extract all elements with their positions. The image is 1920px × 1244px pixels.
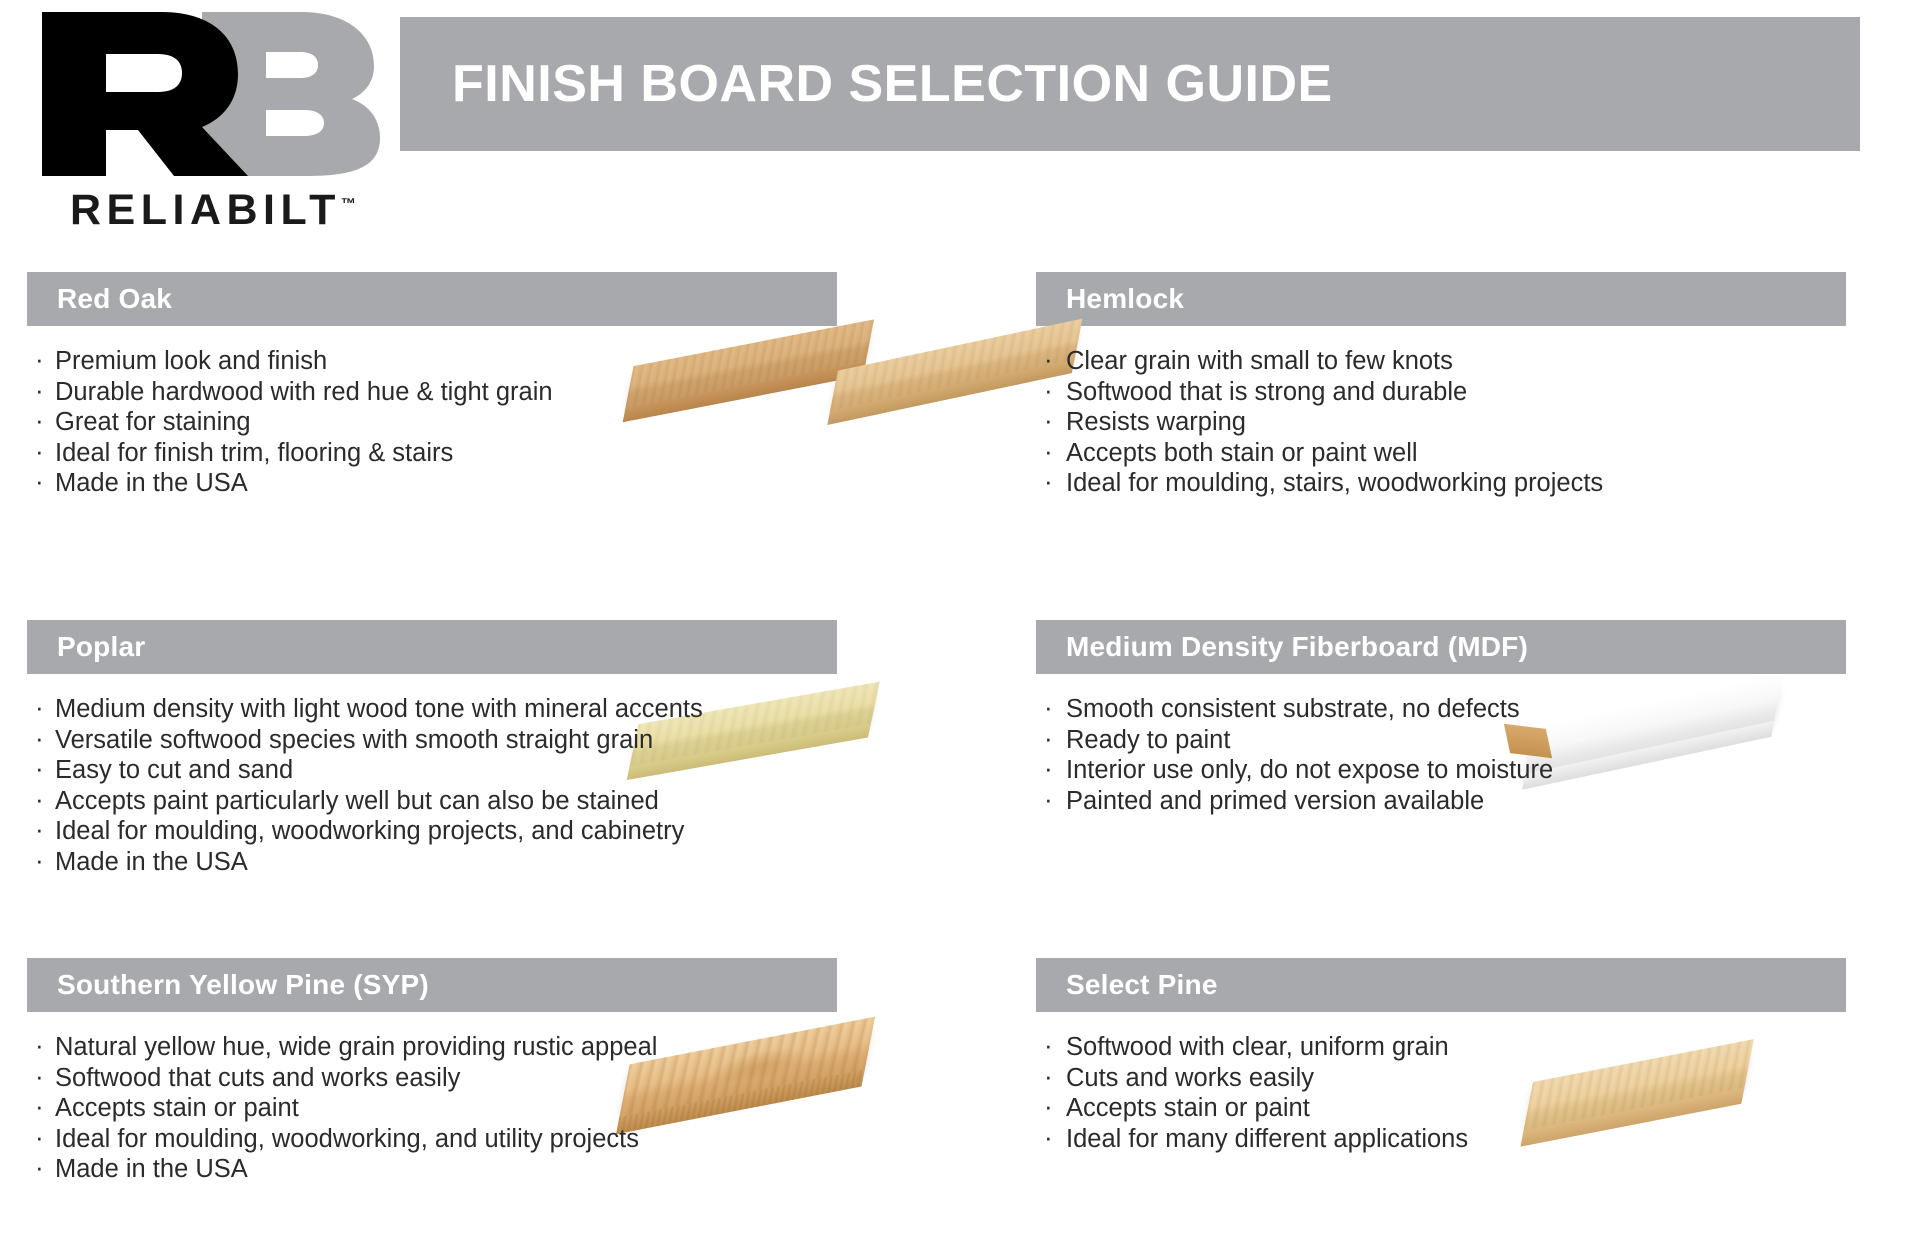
species-body: Softwood with clear, uniform grain Cuts … [1036, 1012, 1846, 1232]
list-item: Made in the USA [27, 847, 837, 878]
list-item: Versatile softwood species with smooth s… [27, 725, 837, 756]
list-item: Easy to cut and sand [27, 755, 837, 786]
species-body: Clear grain with small to few knots Soft… [1036, 326, 1846, 546]
species-title-bar: Poplar [27, 620, 837, 674]
list-item: Softwood with clear, uniform grain [1036, 1032, 1846, 1063]
reliabilt-logo: RELIABILT™ [34, 8, 404, 238]
list-item: Clear grain with small to few knots [1036, 346, 1846, 377]
species-title: Southern Yellow Pine (SYP) [57, 969, 429, 1001]
list-item: Medium density with light wood tone with… [27, 694, 837, 725]
trademark-symbol: ™ [341, 196, 356, 213]
list-item: Resists warping [1036, 407, 1846, 438]
wordmark-text: RELIABILT [70, 186, 341, 234]
species-feature-list: Softwood with clear, uniform grain Cuts … [1036, 1032, 1846, 1154]
species-card-red-oak: Red Oak Premium look and finish Durable … [27, 272, 837, 546]
finish-board-selection-guide-page: RELIABILT™ FINISH BOARD SELECTION GUIDE … [0, 0, 1920, 1244]
species-feature-list: Medium density with light wood tone with… [27, 694, 837, 877]
list-item: Ideal for moulding, woodworking, and uti… [27, 1124, 837, 1155]
list-item: Ideal for moulding, woodworking projects… [27, 816, 837, 847]
reliabilt-wordmark: RELIABILT™ [70, 186, 356, 235]
list-item: Ready to paint [1036, 725, 1846, 756]
list-item: Accepts both stain or paint well [1036, 438, 1846, 469]
list-item: Ideal for moulding, stairs, woodworking … [1036, 468, 1846, 499]
list-item: Painted and primed version available [1036, 786, 1846, 817]
list-item: Cuts and works easily [1036, 1063, 1846, 1094]
list-item: Ideal for finish trim, flooring & stairs [27, 438, 837, 469]
species-title-bar: Select Pine [1036, 958, 1846, 1012]
list-item: Accepts stain or paint [27, 1093, 837, 1124]
species-title-bar: Medium Density Fiberboard (MDF) [1036, 620, 1846, 674]
species-title: Select Pine [1066, 969, 1218, 1001]
species-card-select-pine: Select Pine Softwood with clear, uniform… [1036, 958, 1846, 1232]
species-title: Medium Density Fiberboard (MDF) [1066, 631, 1528, 663]
species-feature-list: Smooth consistent substrate, no defects … [1036, 694, 1846, 816]
species-feature-list: Premium look and finish Durable hardwood… [27, 346, 837, 499]
species-feature-list: Natural yellow hue, wide grain providing… [27, 1032, 837, 1185]
list-item: Interior use only, do not expose to mois… [1036, 755, 1846, 786]
species-title: Red Oak [57, 283, 172, 315]
rb-monogram-icon [34, 8, 386, 180]
species-title-bar: Hemlock [1036, 272, 1846, 326]
list-item: Smooth consistent substrate, no defects [1036, 694, 1846, 725]
species-feature-list: Clear grain with small to few knots Soft… [1036, 346, 1846, 499]
list-item: Great for staining [27, 407, 837, 438]
species-title-bar: Red Oak [27, 272, 837, 326]
page-title: FINISH BOARD SELECTION GUIDE [452, 54, 1333, 114]
list-item: Natural yellow hue, wide grain providing… [27, 1032, 837, 1063]
species-body: Smooth consistent substrate, no defects … [1036, 674, 1846, 894]
species-title: Poplar [57, 631, 145, 663]
species-title-bar: Southern Yellow Pine (SYP) [27, 958, 837, 1012]
page-header: RELIABILT™ FINISH BOARD SELECTION GUIDE [0, 0, 1920, 248]
species-card-hemlock: Hemlock Clear grain with small to few kn… [1036, 272, 1846, 546]
list-item: Accepts paint particularly well but can … [27, 786, 837, 817]
species-card-southern-yellow-pine: Southern Yellow Pine (SYP) Natural yello… [27, 958, 837, 1232]
species-title: Hemlock [1066, 283, 1184, 315]
list-item: Ideal for many different applications [1036, 1124, 1846, 1155]
species-body: Natural yellow hue, wide grain providing… [27, 1012, 837, 1232]
list-item: Softwood that is strong and durable [1036, 377, 1846, 408]
species-body: Medium density with light wood tone with… [27, 674, 837, 894]
title-banner: FINISH BOARD SELECTION GUIDE [400, 17, 1860, 151]
list-item: Made in the USA [27, 468, 837, 499]
species-body: Premium look and finish Durable hardwood… [27, 326, 837, 546]
species-card-poplar: Poplar Medium density with light wood to… [27, 620, 837, 894]
species-card-mdf: Medium Density Fiberboard (MDF) Smooth c… [1036, 620, 1846, 894]
list-item: Premium look and finish [27, 346, 837, 377]
list-item: Softwood that cuts and works easily [27, 1063, 837, 1094]
list-item: Accepts stain or paint [1036, 1093, 1846, 1124]
list-item: Durable hardwood with red hue & tight gr… [27, 377, 837, 408]
list-item: Made in the USA [27, 1154, 837, 1185]
